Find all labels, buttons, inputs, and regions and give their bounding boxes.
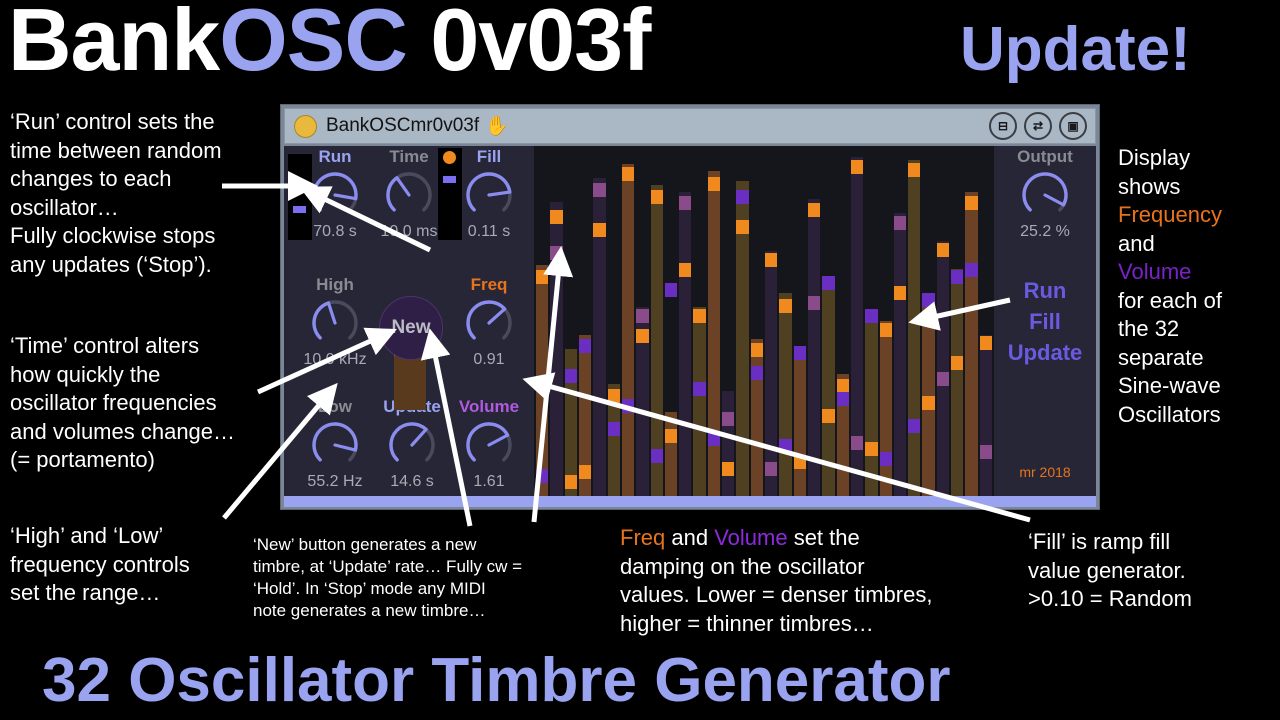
frequency-marker [779, 299, 791, 313]
frequency-marker [851, 160, 863, 174]
volume-marker [880, 452, 892, 466]
display-note-lead: Display shows [1118, 145, 1190, 199]
frequency-marker [651, 190, 663, 204]
mode-word-update[interactable]: Update [994, 340, 1096, 366]
k-freq-label: Freq [452, 276, 526, 294]
frequency-marker [980, 336, 992, 350]
credit-label: mr 2018 [994, 464, 1096, 480]
frequency-marker [665, 429, 677, 443]
plugin-footer-bar [284, 496, 1096, 507]
output-panel: Output 25.2 % Run Fill Update mr 2018 [994, 146, 1096, 496]
frequency-word: Frequency [1118, 202, 1222, 227]
plugin-name: BankOSCmr0v03f [326, 115, 479, 137]
control-panel: Run 70.8 s Time 10.0 ms Fill 0.11 s High… [284, 146, 534, 496]
frequency-marker [880, 323, 892, 337]
oscillator-display[interactable] [534, 146, 994, 496]
oscillator-bar [779, 293, 791, 496]
frequency-marker [579, 465, 591, 479]
volume-marker [550, 246, 562, 260]
frequency-marker [751, 343, 763, 357]
annotation-high-low: ‘High’ and ‘Low’ frequency controls set … [10, 522, 282, 608]
oscillator-bar [880, 321, 892, 496]
freq-word: Freq [620, 525, 665, 550]
frequency-marker [736, 220, 748, 234]
titlebar-icon-group: ⊟ ⇄ ▣ [989, 112, 1087, 140]
k-time-label: Time [372, 148, 446, 166]
title-part-osc: OSC [219, 0, 407, 89]
volume-word: Volume [714, 525, 787, 550]
volume-marker [679, 196, 691, 210]
frequency-marker [693, 309, 705, 323]
volume-marker [894, 216, 906, 230]
volume-word-2: Volume [1118, 259, 1191, 284]
k-high-value: 10.0 kHz [298, 351, 372, 368]
frequency-marker [765, 253, 777, 267]
oscillator-bar [808, 199, 820, 497]
volume-marker [536, 469, 548, 483]
k-run-value: 70.8 s [298, 223, 372, 240]
volume-marker [736, 190, 748, 204]
and-word-2: and [1118, 231, 1155, 256]
annotation-fill: ‘Fill’ is ramp fill value generator. >0.… [1028, 528, 1278, 614]
frequency-marker [679, 263, 691, 277]
frequency-marker [708, 177, 720, 191]
volume-marker [808, 296, 820, 310]
k-fill-label: Fill [452, 148, 526, 166]
frequency-marker [550, 210, 562, 224]
volume-marker [722, 412, 734, 426]
k-freq-dial[interactable] [462, 296, 516, 350]
k-volume-dial[interactable] [462, 418, 516, 472]
screenshot-root: BankOSC 0v03f Update! ‘Run’ control sets… [0, 0, 1280, 720]
oscillator-bar [980, 335, 992, 496]
oscillator-bar [536, 265, 548, 496]
volume-marker [665, 283, 677, 297]
frequency-marker [865, 442, 877, 456]
oscillator-bar [822, 276, 834, 497]
volume-marker [965, 263, 977, 277]
frequency-marker [794, 455, 806, 469]
oscillator-bar [951, 269, 963, 497]
title-part-version: 0v03f [407, 0, 651, 89]
plugin-titlebar[interactable]: BankOSCmr0v03f ✋ ⊟ ⇄ ▣ [284, 108, 1096, 144]
oscillator-bar [794, 346, 806, 497]
k-run-dial[interactable] [308, 168, 362, 222]
volume-marker [651, 449, 663, 463]
volume-marker [565, 369, 577, 383]
volume-marker [579, 339, 591, 353]
annotation-display: Display shows Frequency and Volume for e… [1118, 144, 1278, 429]
knob-output[interactable]: Output 25.2 % [1008, 148, 1082, 240]
frequency-marker [908, 163, 920, 177]
volume-marker [822, 276, 834, 290]
knob-high[interactable]: High 10.0 kHz [298, 276, 372, 368]
mode-word-run[interactable]: Run [994, 278, 1096, 304]
mode-word-fill[interactable]: Fill [994, 309, 1096, 335]
new-button[interactable]: New [379, 296, 443, 360]
knob-time[interactable]: Time 10.0 ms [372, 148, 446, 240]
knob-update[interactable]: Update 14.6 s [375, 398, 449, 490]
k-run-label: Run [298, 148, 372, 166]
k-update-value: 14.6 s [375, 473, 449, 490]
k-low-dial[interactable] [308, 418, 362, 472]
frequency-marker [922, 396, 934, 410]
save-icon[interactable]: ▣ [1059, 112, 1087, 140]
frequency-marker [565, 475, 577, 489]
volume-marker [779, 439, 791, 453]
annotation-time: ‘Time’ control alters how quickly the os… [10, 332, 282, 475]
volume-marker [622, 399, 634, 413]
status-dot-icon [294, 115, 317, 138]
k-update-dial[interactable] [385, 418, 439, 472]
frequency-marker [536, 270, 548, 284]
frequency-marker [937, 243, 949, 257]
update-badge: Update! [960, 14, 1191, 85]
frequency-marker [722, 462, 734, 476]
page-title: BankOSC 0v03f [8, 0, 650, 84]
oscillator-bar [865, 311, 877, 497]
volume-marker [765, 462, 777, 476]
k-time-value: 10.0 ms [372, 223, 446, 240]
oscillator-bar [722, 391, 734, 496]
annotation-run: ‘Run’ control sets the time between rand… [10, 108, 282, 279]
k-low-value: 55.2 Hz [298, 473, 372, 490]
k-freq-value: 0.91 [452, 351, 526, 368]
volume-marker [794, 346, 806, 360]
oscillator-bar [765, 251, 777, 496]
volume-marker [837, 392, 849, 406]
volume-marker [851, 436, 863, 450]
frequency-marker [593, 223, 605, 237]
k-time-dial[interactable] [382, 168, 436, 222]
annotation-freq-volume: Freq and Volume set the damping on the o… [620, 524, 1020, 638]
oscillator-bar [751, 339, 763, 497]
page-tagline: 32 Oscillator Timbre Generator [42, 645, 951, 716]
k-output-value: 25.2 % [1008, 223, 1082, 240]
volume-marker [865, 309, 877, 323]
volume-marker [922, 293, 934, 307]
oscillator-bar [679, 192, 691, 497]
volume-marker [751, 366, 763, 380]
oscillator-bar [908, 160, 920, 496]
volume-marker [608, 422, 620, 436]
k-fill-value: 0.11 s [452, 223, 526, 240]
knob-volume[interactable]: Volume 1.61 [452, 398, 526, 490]
frequency-marker [837, 379, 849, 393]
knob-fill[interactable]: Fill 0.11 s [452, 148, 526, 240]
oscillator-bar [708, 171, 720, 497]
k-volume-label: Volume [452, 398, 526, 416]
volume-marker [951, 270, 963, 284]
frequency-marker [808, 203, 820, 217]
midi-icon[interactable]: ⊟ [989, 112, 1017, 140]
k-output-label: Output [1008, 148, 1082, 166]
annotation-new-button: ‘New’ button generates a new timbre, at … [253, 534, 593, 622]
k-output-dial[interactable] [1018, 168, 1072, 222]
frequency-marker [822, 409, 834, 423]
plugin-window: BankOSCmr0v03f ✋ ⊟ ⇄ ▣ Run [280, 104, 1100, 510]
oscillator-bar [665, 412, 677, 496]
oscillator-bar [922, 293, 934, 496]
new-button-stem [394, 354, 426, 410]
volume-marker [636, 309, 648, 323]
volume-marker [593, 183, 605, 197]
k-high-label: High [298, 276, 372, 294]
frequency-marker [894, 286, 906, 300]
oscillator-bar [937, 241, 949, 497]
oscillator-bar [622, 164, 634, 497]
knob-run[interactable]: Run 70.8 s [298, 148, 372, 240]
volume-marker [937, 372, 949, 386]
display-note-tail: for each of the 32 separate Sine-wave Os… [1118, 288, 1222, 427]
plugin-body: Run 70.8 s Time 10.0 ms Fill 0.11 s High… [284, 146, 1096, 496]
frequency-marker [636, 329, 648, 343]
and-word-1: and [665, 525, 714, 550]
oscillator-bar [965, 192, 977, 497]
volume-marker [708, 432, 720, 446]
k-low-label: Low [298, 398, 372, 416]
oscillator-bar [693, 307, 705, 496]
volume-marker [693, 382, 705, 396]
k-high-dial[interactable] [308, 296, 362, 350]
frequency-marker [622, 167, 634, 181]
k-fill-dial[interactable] [462, 168, 516, 222]
frequency-marker [965, 196, 977, 210]
frequency-marker [608, 389, 620, 403]
hand-icon[interactable]: ✋ [485, 117, 509, 136]
frequency-marker [951, 356, 963, 370]
oscillator-bar [894, 213, 906, 497]
volume-marker [908, 419, 920, 433]
transform-icon[interactable]: ⇄ [1024, 112, 1052, 140]
title-part-bank: Bank [8, 0, 219, 89]
knob-low[interactable]: Low 55.2 Hz [298, 398, 372, 490]
k-volume-value: 1.61 [452, 473, 526, 490]
knob-freq[interactable]: Freq 0.91 [452, 276, 526, 368]
volume-marker [980, 445, 992, 459]
